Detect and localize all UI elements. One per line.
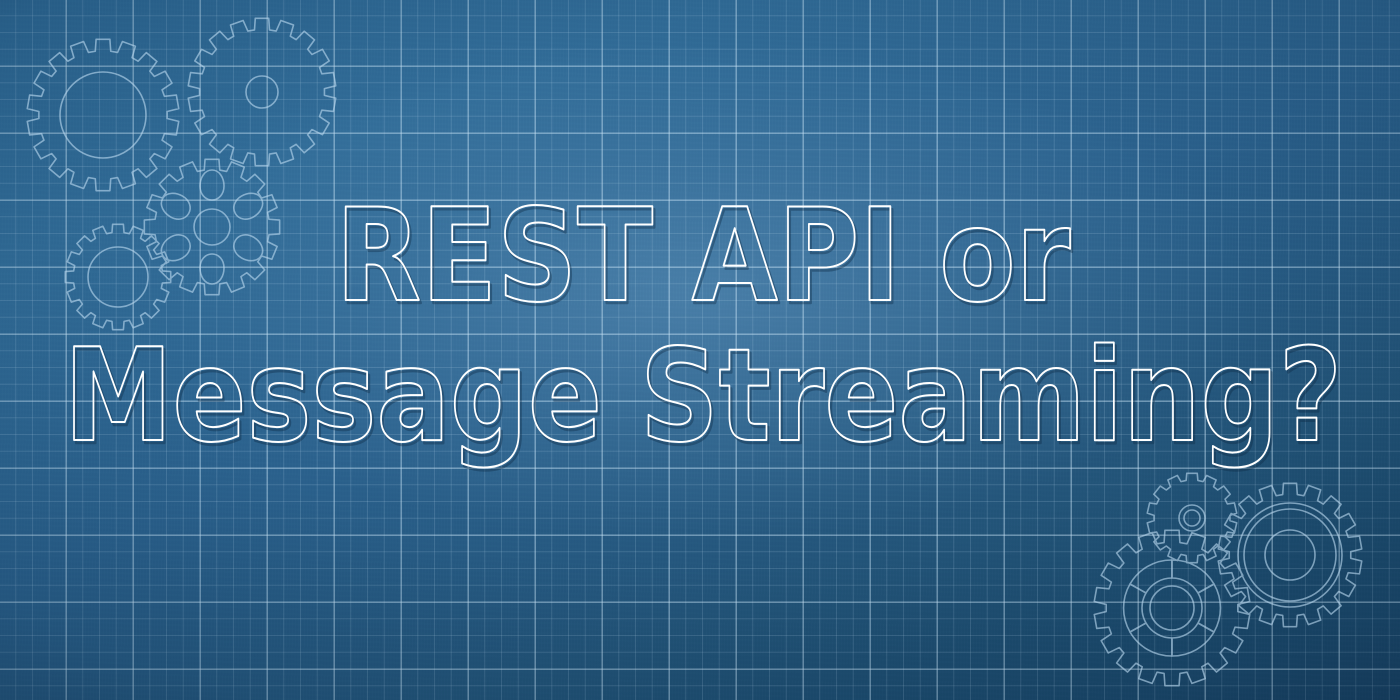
gear-illustration-svg	[0, 0, 1400, 700]
gear-upper-right-body	[188, 18, 335, 165]
gear-cluster-top-left	[27, 18, 335, 329]
gear-wedge-cutouts	[1124, 560, 1221, 656]
gear-decorations	[0, 0, 1400, 700]
gear-cluster-bottom-right	[1094, 473, 1361, 685]
gear-large-outline-body	[27, 39, 178, 190]
gear-large-outline	[27, 39, 178, 190]
gear-teardrop-holes	[157, 170, 268, 284]
gear-small-left-body	[65, 224, 170, 329]
gear-wedge-spokes	[1094, 530, 1249, 685]
gear-large-rings-body	[1218, 483, 1362, 626]
gear-small-left	[65, 224, 170, 329]
gear-upper-right	[188, 18, 335, 165]
gear-teardrop-spokes	[144, 159, 279, 294]
blueprint-banner: REST API or Message Streaming? REST API …	[0, 0, 1400, 700]
gear-wedge-spokes-body	[1094, 530, 1249, 685]
gear-large-rings	[1218, 483, 1362, 626]
gear-teardrop-spokes-body	[144, 159, 279, 294]
